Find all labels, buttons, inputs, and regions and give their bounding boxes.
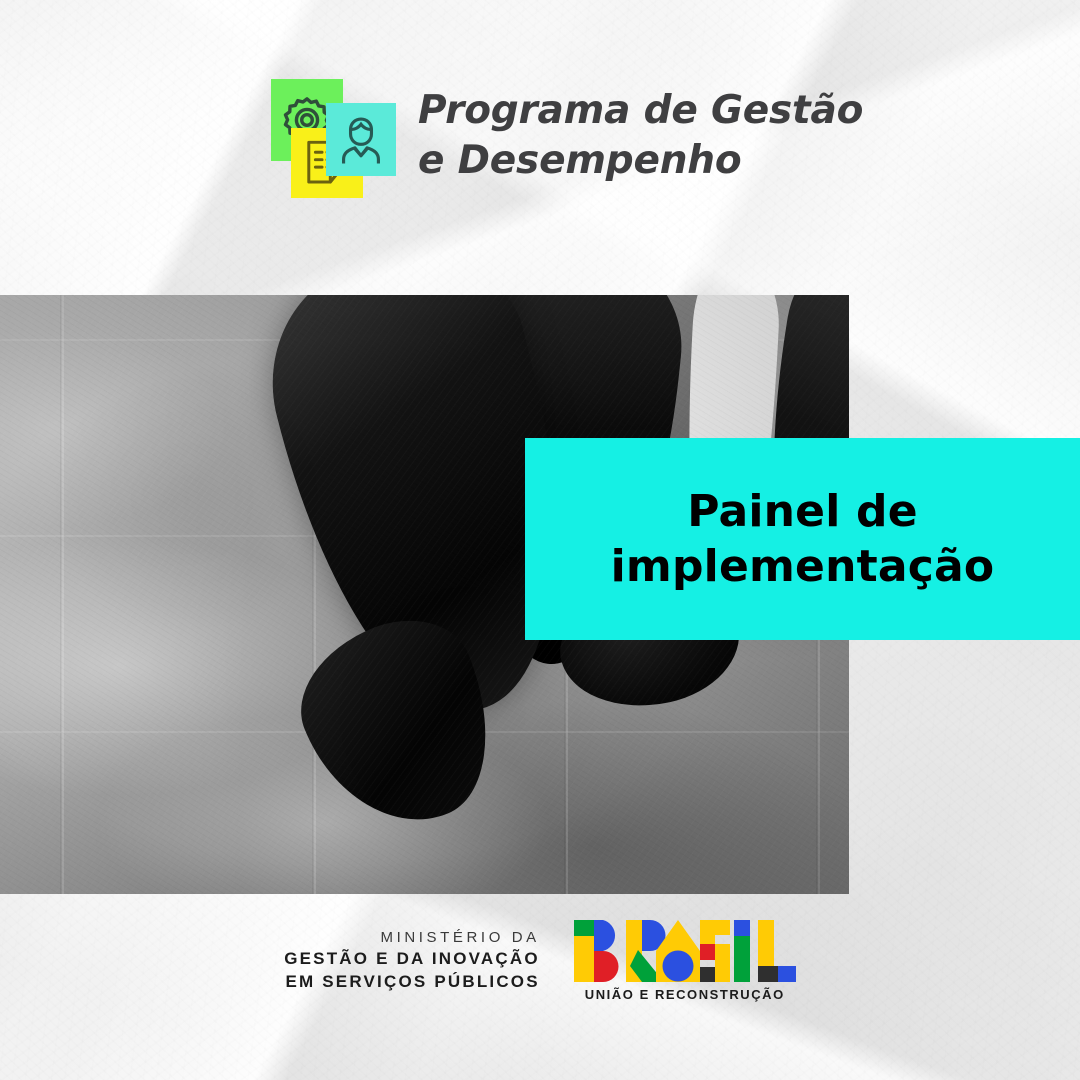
program-header: Programa de Gestão e Desempenho bbox=[264, 74, 863, 198]
brasil-tagline: UNIÃO E RECONSTRUÇÃO bbox=[585, 987, 785, 1002]
page-title: Programa de Gestão e Desempenho bbox=[418, 86, 863, 186]
brasil-wordmark-icon bbox=[574, 920, 796, 982]
person-icon bbox=[336, 113, 386, 167]
highlight-banner: Painel de implementação bbox=[525, 438, 1080, 640]
brasil-logo: UNIÃO E RECONSTRUÇÃO bbox=[574, 920, 796, 1002]
ministry-line-3: EM SERVIÇOS PÚBLICOS bbox=[284, 971, 540, 994]
program-logo-marks bbox=[264, 74, 396, 198]
ministry-line-2: GESTÃO E DA INOVAÇÃO bbox=[284, 948, 540, 971]
ministry-wordmark: MINISTÉRIO DA GESTÃO E DA INOVAÇÃO EM SE… bbox=[284, 928, 540, 994]
footer: MINISTÉRIO DA GESTÃO E DA INOVAÇÃO EM SE… bbox=[0, 920, 1080, 1002]
banner-title: Painel de implementação bbox=[595, 484, 1011, 595]
poster-canvas: Programa de Gestão e Desempenho Painel d… bbox=[0, 0, 1080, 1080]
person-icon-swatch bbox=[326, 103, 396, 176]
ministry-line-1: MINISTÉRIO DA bbox=[284, 928, 540, 948]
